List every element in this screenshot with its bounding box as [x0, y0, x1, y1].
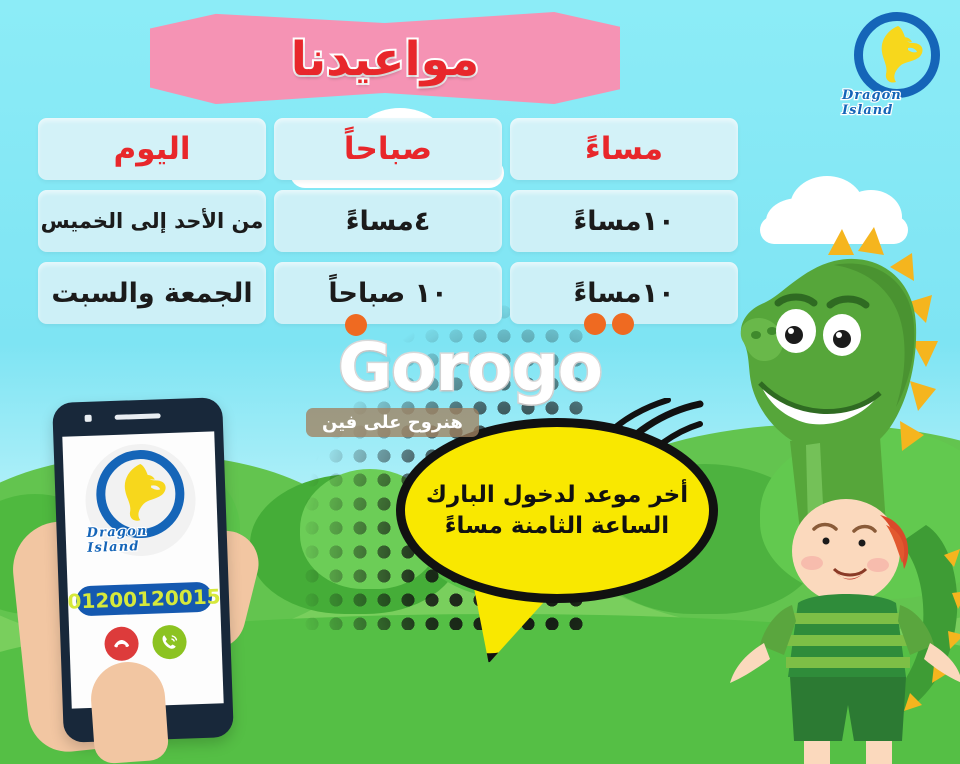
phone-call-icon — [159, 632, 180, 653]
logo-dragon-island-phone: Dragon Island — [84, 442, 198, 558]
value-day-row1: من الأحد إلى الخميس — [41, 209, 264, 233]
poster-canvas: Dragon Island مواعيدنا مساءً صباحاً اليو… — [0, 0, 960, 764]
notice-line-1: أخر موعد لدخول البارك — [426, 480, 688, 510]
table-row: ١٠مساءً ٤مساءً من الأحد إلى الخميس — [38, 190, 738, 252]
value-morning-row2: ١٠ صباحاً — [328, 278, 447, 309]
table-row: ١٠مساءً ١٠ صباحاً الجمعة والسبت — [38, 262, 738, 324]
value-day-row2: الجمعة والسبت — [51, 278, 252, 309]
phone-hangup-icon — [111, 633, 132, 654]
value-morning-row1: ٤مساءً — [346, 206, 431, 237]
dragon-icon — [110, 459, 174, 527]
header-cell-evening: مساءً — [510, 118, 738, 180]
decline-call-button[interactable] — [104, 626, 139, 661]
cell-morning-row2: ١٠ صباحاً — [274, 262, 502, 324]
schedule-table: مساءً صباحاً اليوم ١٠مساءً ٤مساءً من الأ… — [38, 118, 738, 334]
table-header-row: مساءً صباحاً اليوم — [38, 118, 738, 180]
phone-number-display: 01200120015 — [76, 582, 213, 617]
header-label-day: اليوم — [113, 131, 190, 167]
cell-day-row2: الجمعة والسبت — [38, 262, 266, 324]
logo-dragon-island-top: Dragon Island — [842, 6, 952, 118]
watermark-dot-left — [345, 314, 367, 336]
cell-evening-row1: ١٠مساءً — [510, 190, 738, 252]
dragon-mascot-with-boy — [730, 225, 960, 764]
header-label-morning: صباحاً — [344, 131, 432, 167]
value-evening-row1: ١٠مساءً — [573, 206, 674, 237]
logo-wordmark: Dragon Island — [842, 84, 952, 118]
watermark-tagline: هنروح على فين — [306, 408, 479, 437]
accept-call-button[interactable] — [152, 625, 187, 660]
call-button-group — [69, 623, 222, 662]
page-title: مواعيدنا — [150, 18, 620, 100]
watermark-dot-mid — [584, 313, 606, 335]
speech-bubble-notice: أخر موعد لدخول البارك الساعة الثامنة مسا… — [396, 418, 718, 603]
logo-wordmark: Dragon Island — [86, 522, 197, 556]
cell-day-row1: من الأحد إلى الخميس — [38, 190, 266, 252]
phone-speaker-icon — [115, 413, 161, 420]
dragon-icon — [868, 22, 930, 88]
notice-line-2: الساعة الثامنة مساءً — [445, 511, 669, 541]
value-evening-row2: ١٠مساءً — [573, 278, 674, 309]
header-label-evening: مساءً — [585, 131, 663, 167]
header-cell-morning: صباحاً — [274, 118, 502, 180]
cell-morning-row1: ٤مساءً — [274, 190, 502, 252]
header-cell-day: اليوم — [38, 118, 266, 180]
watermark-logo: Gorogo — [300, 332, 640, 402]
hand-thumb — [89, 660, 170, 764]
watermark-text: Gorogo — [338, 329, 602, 406]
title-banner: مواعيدنا — [150, 4, 620, 114]
phone-camera-icon — [85, 415, 92, 422]
watermark-dot-right — [612, 313, 634, 335]
